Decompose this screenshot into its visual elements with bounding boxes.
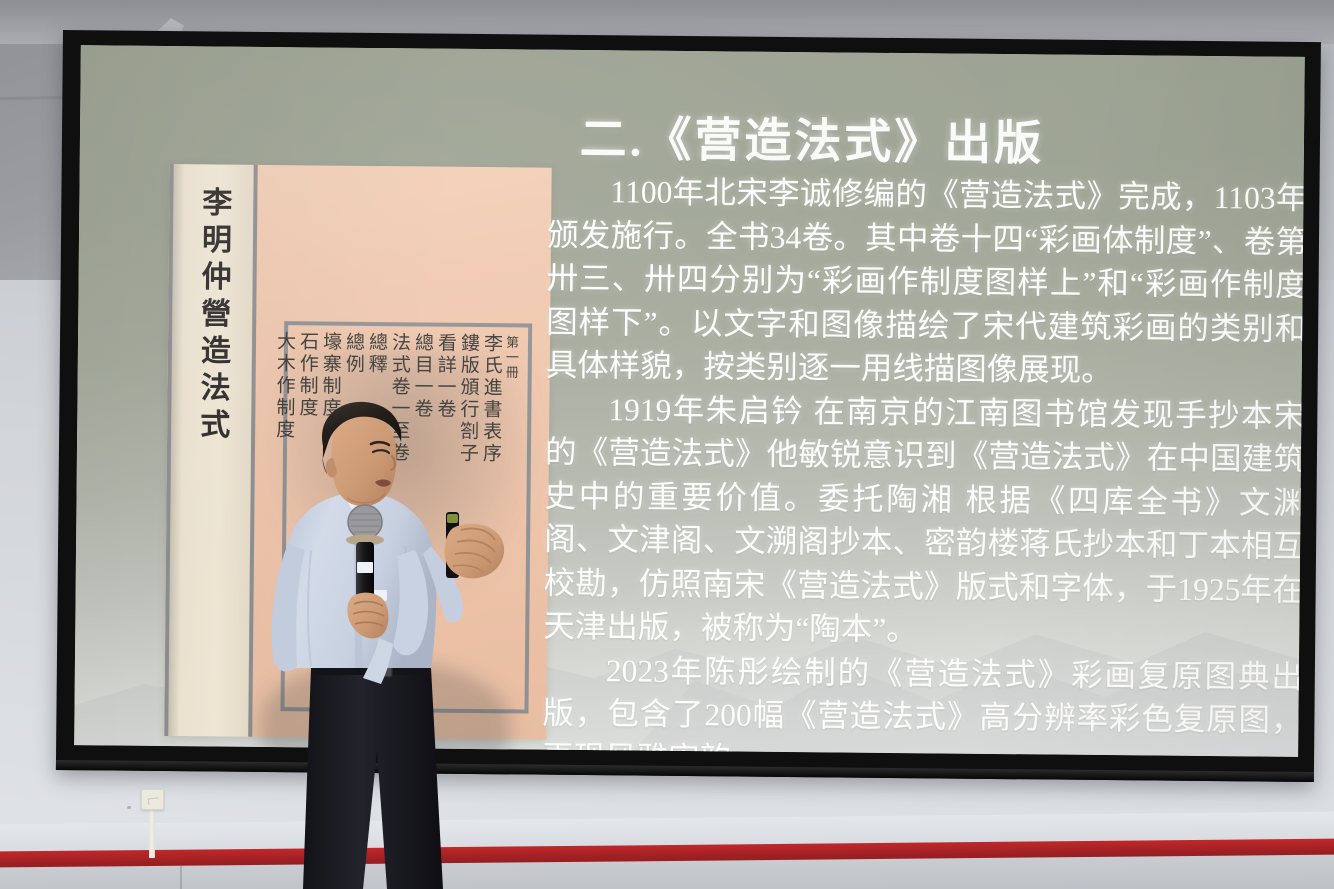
- presenter-trousers: [303, 668, 443, 889]
- slide-paragraph: 1100年北宋李诚修编的《营造法式》完成，1103年颁发施行。全书34卷。其中卷…: [546, 170, 1305, 395]
- book-spine: 李明仲營造法式: [164, 164, 257, 737]
- lecture-photo-scene: 李明仲營造法式 第一冊 李氏進書表序 鏤版頒行劄子 看詳一卷 總目一卷 法式卷一…: [0, 0, 1334, 889]
- floor-seam: [180, 866, 182, 889]
- outlet-slot-icon: [148, 797, 160, 804]
- wall-power-outlet: [141, 789, 164, 810]
- presenter-head: [322, 402, 401, 506]
- outlet-cord: [149, 808, 155, 858]
- projection-screen: 李明仲營造法式 第一冊 李氏進書表序 鏤版頒行劄子 看詳一卷 總目一卷 法式卷一…: [56, 30, 1321, 782]
- slide-body-text: 1100年北宋李诚修编的《营造法式》完成，1103年颁发施行。全书34卷。其中卷…: [542, 170, 1305, 757]
- presenter-left-hand: [445, 524, 505, 578]
- presenter-figure: [255, 400, 555, 889]
- wall-scuff: [127, 806, 131, 809]
- slide-paragraph: 2023年陈彤绘制的《营造法式》彩画复原图典出版，包含了200幅《营造法式》高分…: [542, 648, 1303, 757]
- slide-title: 二.《营造法式》出版: [80, 95, 1305, 176]
- book-spine-title: 李明仲營造法式: [196, 186, 228, 445]
- slide-paragraph: 1919年朱启钤 在南京的江南图书馆发现手抄本宋的《营造法式》他敏锐意识到《营造…: [543, 387, 1305, 655]
